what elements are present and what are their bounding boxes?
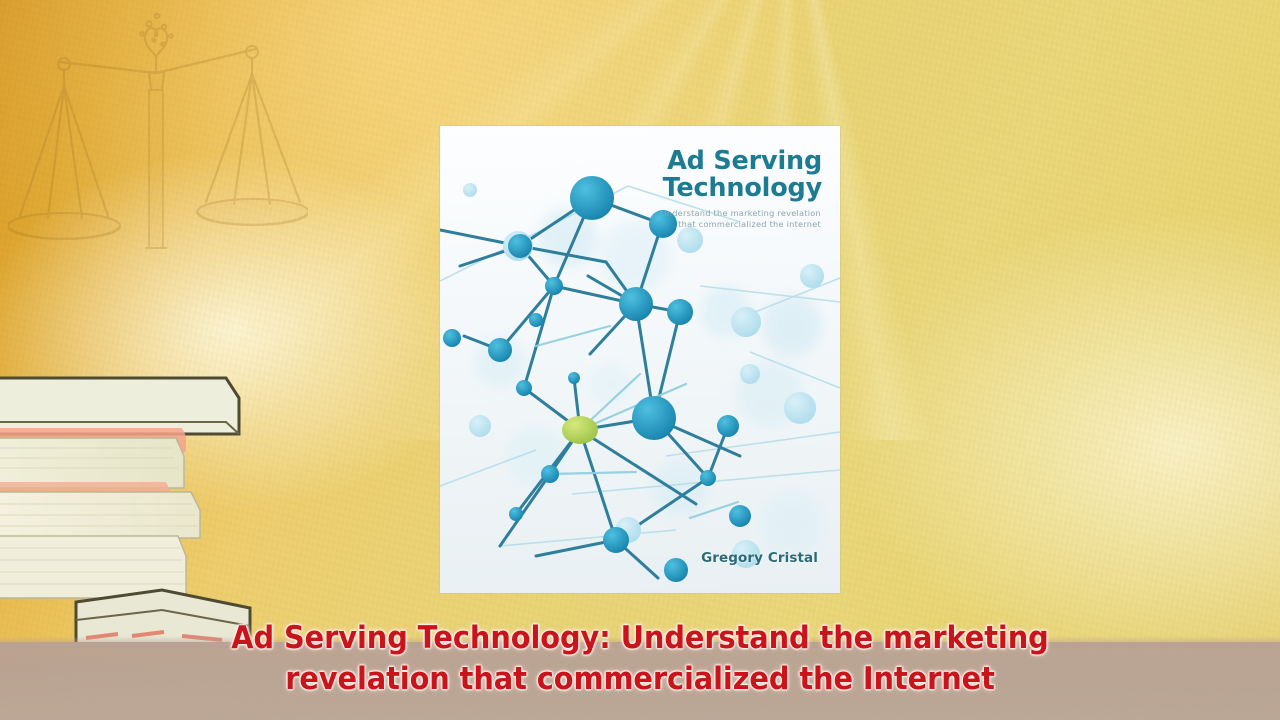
book-cover-author: Gregory Cristal <box>701 550 818 566</box>
book-cover-subtitle: Understand the marketing revelation that… <box>577 208 821 231</box>
book-cover: Ad Serving Technology Understand the mar… <box>440 126 840 593</box>
book-cover-title: Ad Serving Technology <box>574 148 822 202</box>
accent-node <box>562 416 598 444</box>
listing-caption: Ad Serving Technology: Understand the ma… <box>45 618 1235 700</box>
screenshot-canvas: Ad Serving Technology Understand the mar… <box>0 0 1280 720</box>
